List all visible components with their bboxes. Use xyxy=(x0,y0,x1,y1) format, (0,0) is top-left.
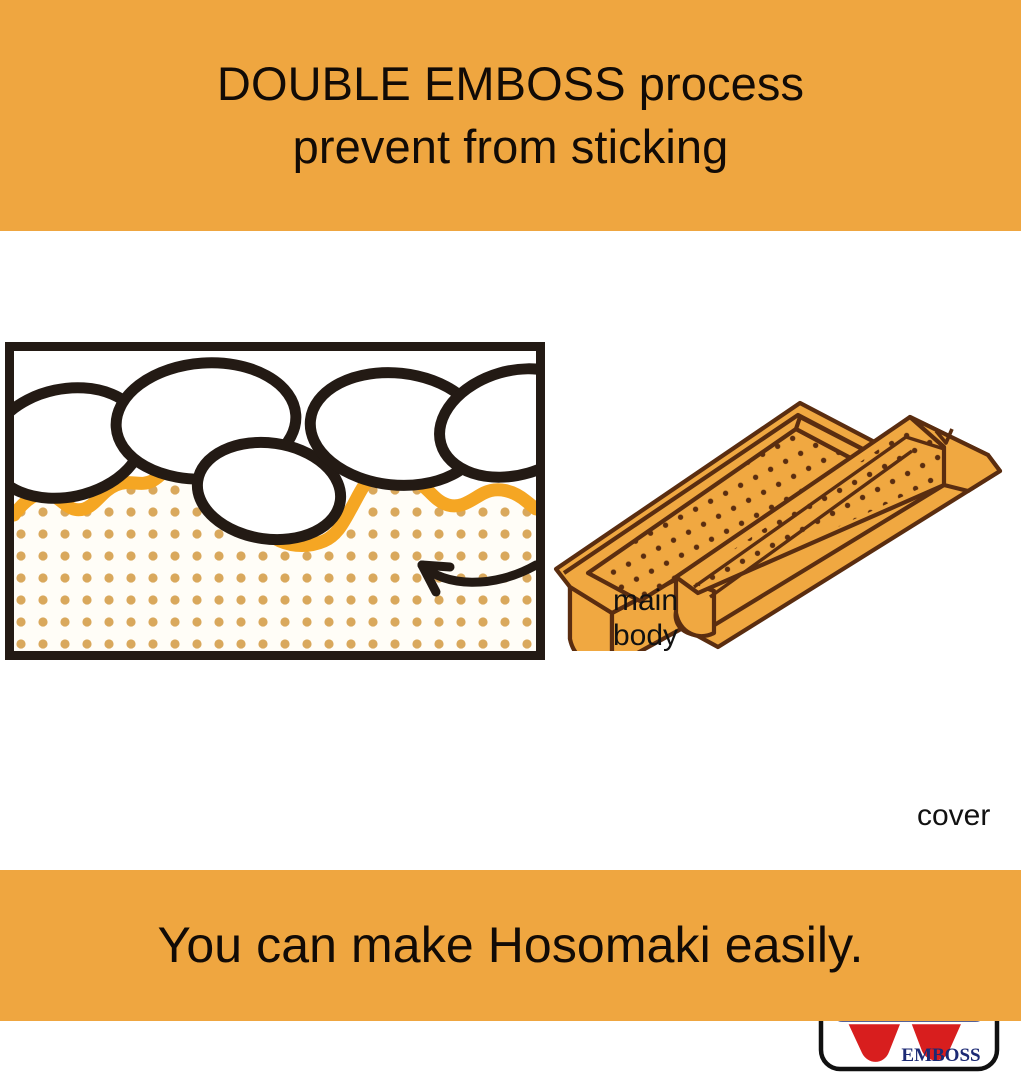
label-main-body-line1: main xyxy=(613,584,678,619)
label-main-body: main body xyxy=(613,584,678,654)
bottom-banner: You can make Hosomaki easily. xyxy=(0,870,1021,1021)
logo-bottom-text: EMBOSS xyxy=(901,1045,980,1066)
top-banner-line-2: prevent from sticking xyxy=(293,116,729,179)
label-main-body-line2: body xyxy=(613,619,678,654)
cross-section-box: Cross-section view xyxy=(5,342,545,660)
diagram-area: Cross-section view xyxy=(0,231,1021,870)
label-cover: cover xyxy=(917,799,990,834)
top-banner-line-1: DOUBLE EMBOSS process xyxy=(217,53,804,116)
infographic-canvas: DOUBLE EMBOSS process prevent from stick… xyxy=(0,0,1021,1021)
bottom-banner-line-1: You can make Hosomaki easily. xyxy=(157,912,863,979)
cross-section-illustration xyxy=(14,351,536,651)
top-banner: DOUBLE EMBOSS process prevent from stick… xyxy=(0,0,1021,231)
